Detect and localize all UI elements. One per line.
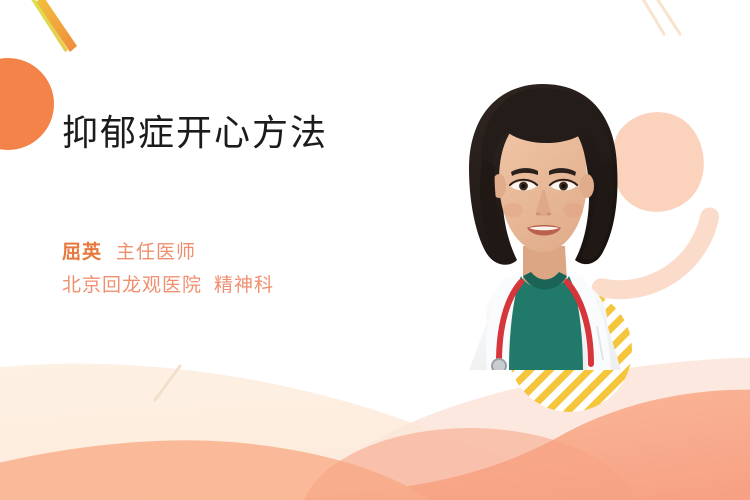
top-left-diagonal-lines bbox=[30, 0, 77, 52]
text-block: 抑郁症开心方法 屈英主任医师 北京回龙观医院精神科 bbox=[62, 110, 442, 302]
orange-circle-decoration bbox=[0, 58, 54, 150]
stethoscope-chestpiece bbox=[492, 359, 506, 370]
video-cover-card: 抑郁症开心方法 屈英主任医师 北京回龙观医院精神科 bbox=[0, 0, 750, 500]
portrait-container bbox=[425, 70, 660, 370]
speaker-line-primary: 屈英主任医师 bbox=[62, 236, 442, 269]
speaker-line-secondary: 北京回龙观医院精神科 bbox=[62, 269, 442, 302]
speaker-department: 精神科 bbox=[214, 274, 274, 296]
top-right-diagonal-lines bbox=[640, 0, 680, 34]
ear-right bbox=[580, 174, 594, 198]
female-doctor-portrait bbox=[425, 70, 660, 370]
page-title: 抑郁症开心方法 bbox=[62, 110, 442, 158]
speaker-name: 屈英 bbox=[62, 241, 102, 263]
speaker-organization: 北京回龙观医院 bbox=[62, 274, 202, 296]
speaker-info: 屈英主任医师 北京回龙观医院精神科 bbox=[62, 236, 442, 302]
speaker-role: 主任医师 bbox=[116, 241, 196, 263]
